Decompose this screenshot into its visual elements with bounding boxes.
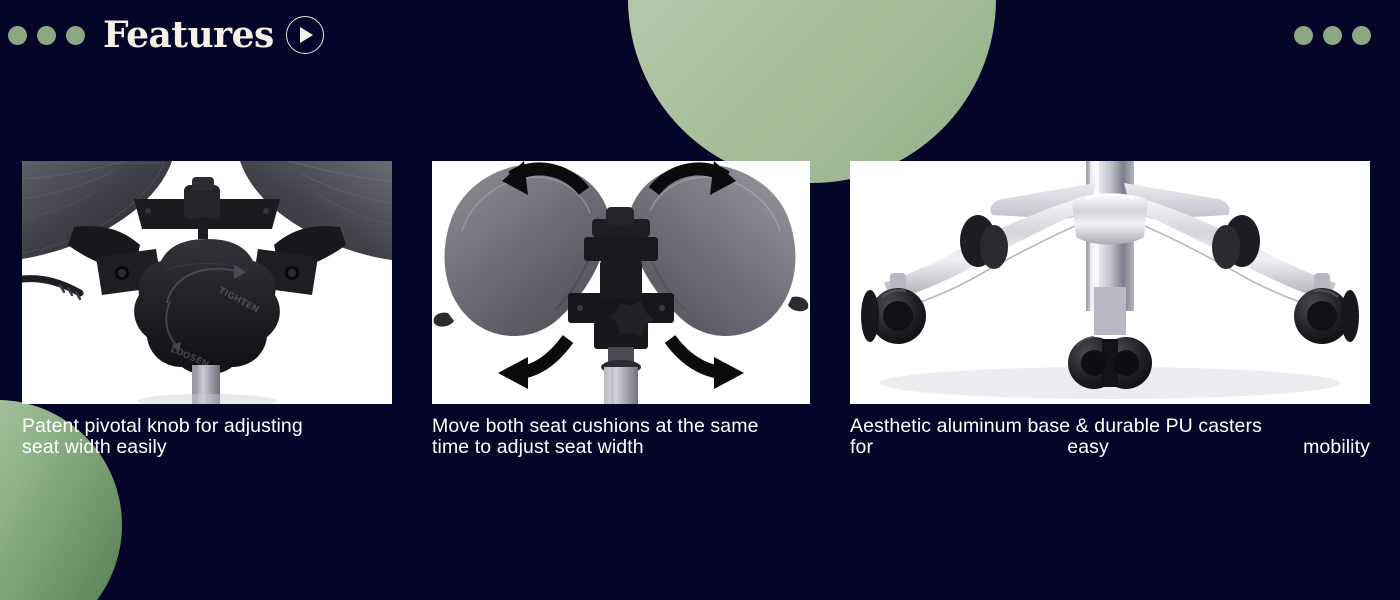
header-dot-3-icon — [66, 26, 85, 45]
split-seat-cushions-illustration — [432, 161, 810, 404]
feature-card-3-caption: Aesthetic aluminum base & durable PU cas… — [850, 416, 1370, 479]
header-right-dot-2-icon — [1323, 26, 1342, 45]
header-dot-2-icon — [37, 26, 56, 45]
header-left-group: Features — [8, 0, 324, 70]
feature-cards-container: TIGHTEN LOOSEN Patent pivotal knob for a… — [0, 0, 1400, 600]
chair-pivot-knob-illustration: TIGHTEN LOOSEN — [22, 161, 392, 404]
feature-card-2-caption: Move both seat cushions at the same time… — [432, 416, 810, 458]
feature-card-1-caption: Patent pivotal knob for adjusting seat w… — [22, 416, 392, 458]
feature-card-3-caption-line-2: for easy mobility — [850, 436, 1370, 458]
feature-card-2: Move both seat cushions at the same time… — [432, 161, 810, 458]
aluminum-base-casters-illustration — [850, 161, 1370, 404]
split-seat-cushions-photo — [432, 161, 810, 404]
header-right-dot-3-icon — [1352, 26, 1371, 45]
chair-pivot-knob-photo: TIGHTEN LOOSEN — [22, 161, 392, 404]
page-title: Features — [103, 17, 274, 53]
header-dot-1-icon — [8, 26, 27, 45]
feature-card-1: TIGHTEN LOOSEN Patent pivotal knob for a… — [22, 161, 392, 458]
play-button[interactable] — [286, 16, 324, 54]
aluminum-base-casters-photo — [850, 161, 1370, 404]
feature-card-3-caption-line-1: Aesthetic aluminum base & durable PU cas… — [850, 415, 1262, 437]
header-right-group — [1294, 0, 1371, 70]
play-icon — [300, 27, 313, 43]
header-right-dot-1-icon — [1294, 26, 1313, 45]
feature-card-3: Aesthetic aluminum base & durable PU cas… — [850, 161, 1370, 479]
page-header: Features — [0, 0, 1400, 70]
